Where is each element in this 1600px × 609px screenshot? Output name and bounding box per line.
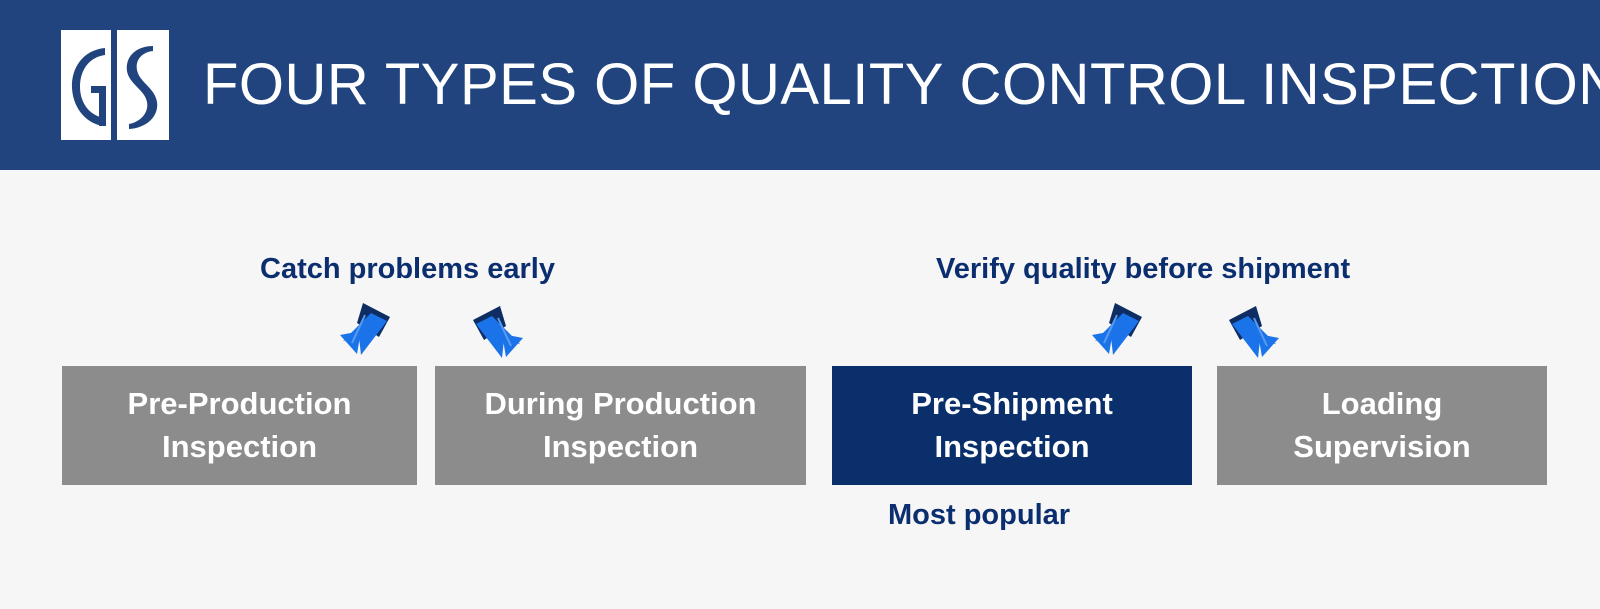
stage-label: Loading Supervision	[1293, 383, 1470, 469]
stage-label-line1: During Production	[484, 386, 756, 421]
stage-box-loading-supervision[interactable]: Loading Supervision	[1217, 366, 1547, 485]
stage-label: During Production Inspection	[484, 383, 756, 469]
stage-label-line2: Inspection	[162, 429, 317, 464]
stage-label-line1: Pre-Shipment	[911, 386, 1113, 421]
stage-label: Pre-Shipment Inspection	[911, 383, 1113, 469]
stage-label-line2: Supervision	[1293, 429, 1470, 464]
stage-label-line2: Inspection	[934, 429, 1089, 464]
stage-box-pre-shipment-inspection[interactable]: Pre-Shipment Inspection	[832, 366, 1192, 485]
page-header: FOUR TYPES OF QUALITY CONTROL INSPECTION	[0, 0, 1600, 170]
stage-label-line1: Pre-Production	[128, 386, 352, 421]
annotation-verify-quality-before-shipment: Verify quality before shipment	[936, 255, 1350, 284]
diagram-canvas: Catch problems early Verify quality befo…	[0, 170, 1600, 609]
stage-box-pre-production-inspection[interactable]: Pre-Production Inspection	[62, 366, 417, 485]
annotation-most-popular: Most popular	[888, 501, 1070, 530]
stage-label-line2: Inspection	[543, 429, 698, 464]
company-logo	[61, 30, 169, 140]
arrow-down-right-icon	[1222, 300, 1284, 362]
arrow-down-left-icon	[335, 297, 397, 359]
page-title: FOUR TYPES OF QUALITY CONTROL INSPECTION	[203, 56, 1600, 114]
stage-label-line1: Loading	[1322, 386, 1443, 421]
stage-box-during-production-inspection[interactable]: During Production Inspection	[435, 366, 806, 485]
arrow-down-right-icon	[466, 300, 528, 362]
stage-label: Pre-Production Inspection	[128, 383, 352, 469]
arrow-down-left-icon	[1087, 297, 1149, 359]
annotation-catch-problems-early: Catch problems early	[260, 255, 555, 284]
